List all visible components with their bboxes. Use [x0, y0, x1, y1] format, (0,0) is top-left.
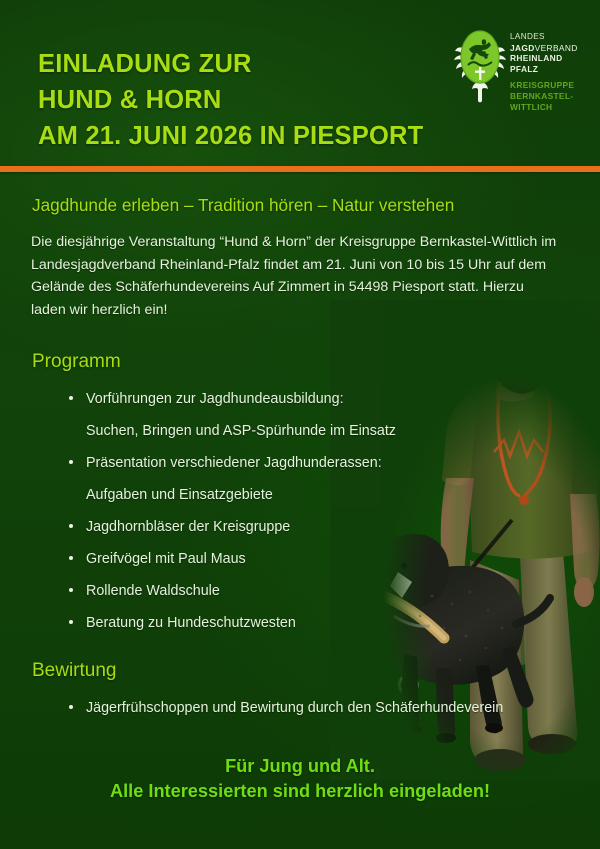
list-item-subtext: Aufgaben und Einsatzgebiete [86, 484, 496, 506]
bullet-dot [69, 620, 73, 624]
list-item-text: Jägerfrühschoppen und Bewirtung durch de… [86, 700, 503, 716]
list-item-text: Rollende Waldschule [86, 583, 220, 599]
bullet-dot [69, 705, 73, 709]
intro-paragraph: Die diesjährige Veranstaltung “Hund & Ho… [31, 231, 561, 321]
footer-line-2: Alle Interessierten sind herzlich eingel… [0, 779, 600, 804]
logo-line-jagdverband: JAGDVERBAND [510, 43, 586, 54]
footer-line-1: Für Jung und Alt. [0, 754, 600, 779]
list-item-text: Jagdhornbläser der Kreisgruppe [86, 519, 290, 535]
list-item: Rollende Waldschule [66, 580, 496, 602]
bewirtung-list: Jägerfrühschoppen und Bewirtung durch de… [66, 697, 566, 729]
cap-brim [459, 330, 535, 354]
list-item-text: Beratung zu Hundeschutzwesten [86, 615, 296, 631]
list-item-text: Vorführungen zur Jagdhundeausbildung: [86, 391, 344, 407]
organisation-logo: LANDES JAGDVERBAND RHEINLAND PFALZ KREIS… [452, 27, 584, 125]
section-heading-bewirtung: Bewirtung [32, 659, 117, 683]
section-heading-programm: Programm [32, 350, 121, 374]
poster-footer: Für Jung und Alt. Alle Interessierten si… [0, 754, 600, 804]
title-line-1: EINLADUNG ZUR [38, 46, 438, 82]
list-item-text: Greifvögel mit Paul Maus [86, 551, 246, 567]
poster-header: EINLADUNG ZUR HUND & HORN AM 21. JUNI 20… [0, 0, 600, 168]
page-title: EINLADUNG ZUR HUND & HORN AM 21. JUNI 20… [38, 46, 438, 154]
logo-org-name: LANDES JAGDVERBAND RHEINLAND PFALZ [510, 32, 586, 74]
tagline: Jagdhunde erleben – Tradition hören – Na… [32, 194, 454, 216]
logo-sub-line-2: BERNKASTEL- [510, 91, 590, 102]
logo-line-landes: LANDES [510, 32, 586, 43]
bullet-dot [69, 460, 73, 464]
bullet-dot [69, 524, 73, 528]
shirt-logo [494, 432, 543, 456]
poster-canvas: EINLADUNG ZUR HUND & HORN AM 21. JUNI 20… [0, 0, 600, 849]
lanyard [498, 382, 520, 496]
list-item: Jägerfrühschoppen und Bewirtung durch de… [66, 697, 566, 719]
accent-divider [0, 166, 600, 172]
logo-sub-line-3: WITTLICH [510, 102, 590, 113]
bullet-dot [69, 556, 73, 560]
beard [492, 348, 553, 394]
programm-list: Vorführungen zur Jagdhundeausbildung: Su… [66, 388, 496, 644]
logo-chapter-name: KREISGRUPPE BERNKASTEL- WITTLICH [510, 80, 590, 114]
list-item: Greifvögel mit Paul Maus [66, 548, 496, 570]
bullet-dot [69, 588, 73, 592]
logo-line-rheinland: RHEINLAND [510, 53, 586, 64]
arm-right [570, 494, 600, 590]
jagdverband-crest-icon [452, 27, 508, 103]
list-item-text: Präsentation verschiedener Jagdhunderass… [86, 455, 382, 471]
list-item: Beratung zu Hundeschutzwesten [66, 612, 496, 634]
logo-line-pfalz: PFALZ [510, 64, 586, 75]
list-item: Jagdhornbläser der Kreisgruppe [66, 516, 496, 538]
logo-sub-line-1: KREISGRUPPE [510, 80, 590, 91]
list-item-subtext: Suchen, Bringen und ASP-Spürhunde im Ein… [86, 420, 496, 442]
bullet-dot [69, 396, 73, 400]
title-line-2: HUND & HORN [38, 82, 438, 118]
list-item: Präsentation verschiedener Jagdhunderass… [66, 452, 496, 506]
title-line-3: AM 21. JUNI 2026 IN PIESPORT [38, 118, 438, 154]
list-item: Vorführungen zur Jagdhundeausbildung: Su… [66, 388, 496, 442]
head [487, 312, 555, 388]
